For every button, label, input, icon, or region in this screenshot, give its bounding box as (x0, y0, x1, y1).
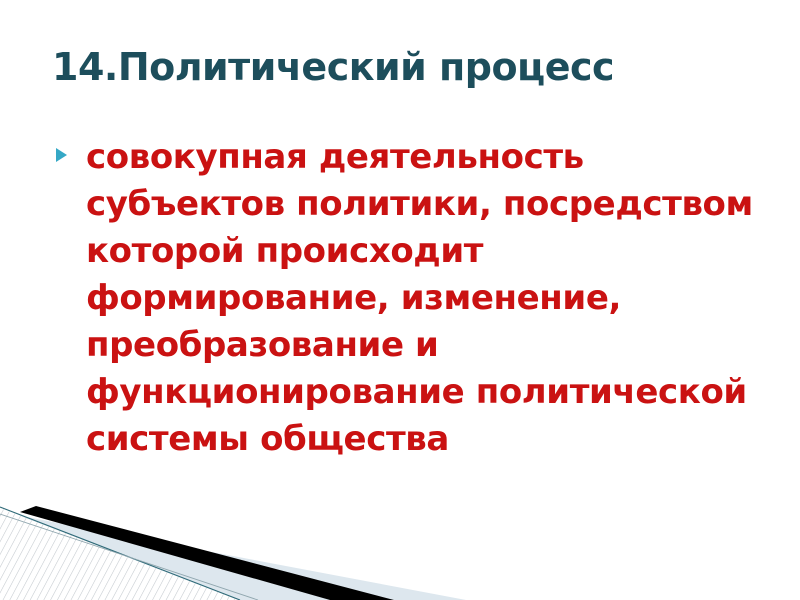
content-placeholder: совокупная деятельность субъектов полити… (52, 134, 764, 463)
corner-ribbon-decoration (0, 490, 480, 600)
decor-outline-line-secondary (0, 514, 258, 600)
decor-hatch-shape (0, 490, 480, 600)
page-title: 14.Политический процесс (52, 44, 762, 90)
decor-wedge-shape (0, 490, 480, 600)
triangle-right-icon (56, 148, 67, 162)
list-item: совокупная деятельность субъектов полити… (52, 134, 764, 463)
list-item-label: совокупная деятельность субъектов полити… (86, 134, 764, 463)
slide-canvas: 14.Политический процесс совокупная деяте… (0, 0, 800, 600)
decor-black-band (20, 506, 394, 600)
decor-outline-line (0, 507, 240, 600)
